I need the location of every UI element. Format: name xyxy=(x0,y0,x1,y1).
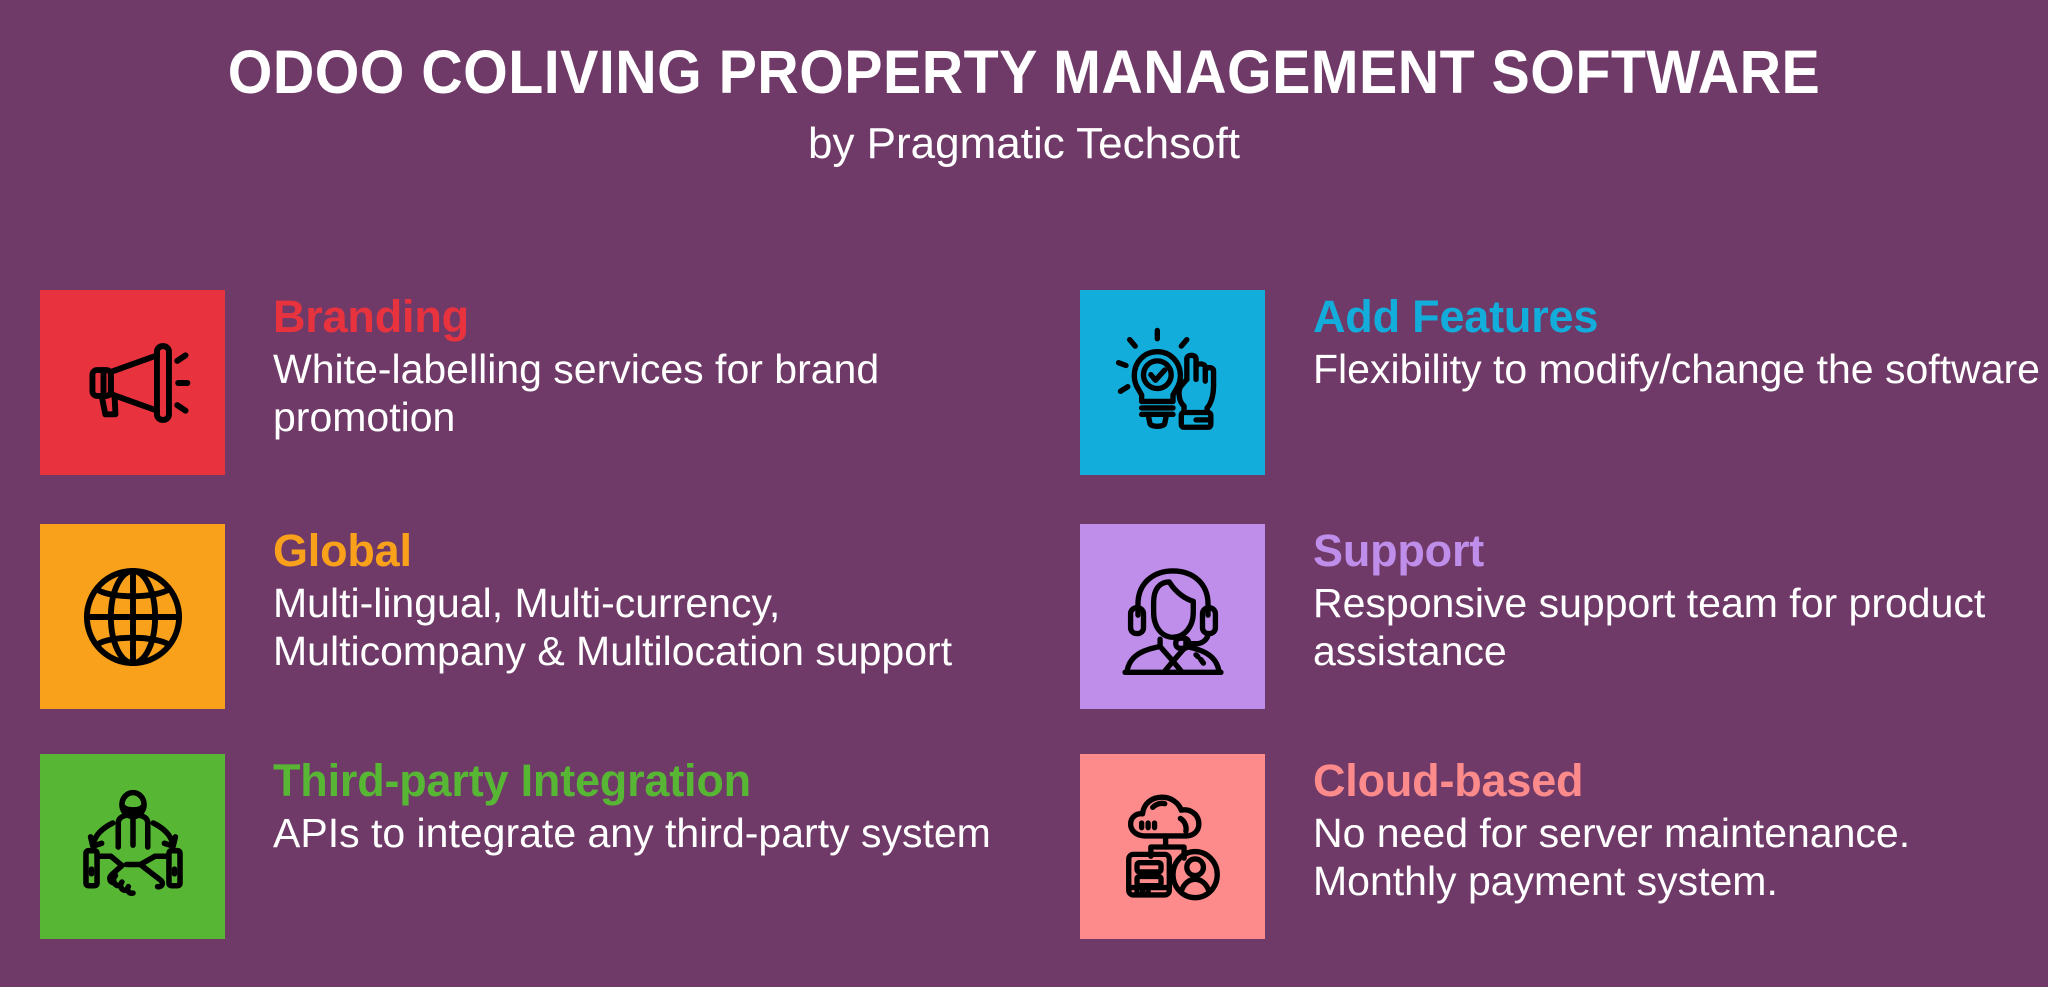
feature-text-add-features: Add Features Flexibility to modify/chang… xyxy=(1265,290,2048,393)
feature-text-branding: Branding White-labelling services for br… xyxy=(225,290,1024,442)
feature-text-third-party: Third-party Integration APIs to integrat… xyxy=(225,754,1024,857)
feature-icon-tile-third-party xyxy=(40,754,225,939)
cloud-server-user-icon xyxy=(1114,788,1232,906)
feature-text-global: Global Multi-lingual, Multi-currency, Mu… xyxy=(225,524,1024,676)
feature-body: No need for server maintenance. Monthly … xyxy=(1313,809,2048,906)
feature-support[interactable]: Support Responsive support team for prod… xyxy=(1024,524,2048,709)
feature-heading: Global xyxy=(273,528,1024,573)
feature-body: Responsive support team for product assi… xyxy=(1313,579,2048,676)
feature-icon-tile-global xyxy=(40,524,225,709)
feature-heading: Cloud-based xyxy=(1313,758,2048,803)
feature-third-party-integration[interactable]: Third-party Integration APIs to integrat… xyxy=(0,754,1024,939)
feature-heading: Branding xyxy=(273,294,1024,339)
page-subtitle: by Pragmatic Techsoft xyxy=(0,120,2048,168)
feature-heading: Support xyxy=(1313,528,2048,573)
feature-body: Multi-lingual, Multi-currency, Multicomp… xyxy=(273,579,1024,676)
lightbulb-hand-icon xyxy=(1114,324,1232,442)
feature-icon-tile-branding xyxy=(40,290,225,475)
features-column-left: Branding White-labelling services for br… xyxy=(0,265,1024,939)
feature-text-support: Support Responsive support team for prod… xyxy=(1265,524,2048,676)
feature-cloud-based[interactable]: Cloud-based No need for server maintenan… xyxy=(1024,754,2048,939)
feature-icon-tile-cloud-based xyxy=(1080,754,1265,939)
feature-body: White-labelling services for brand promo… xyxy=(273,345,1024,442)
page-header: ODOO COLIVING PROPERTY MANAGEMENT SOFTWA… xyxy=(0,0,2048,168)
handshake-icon xyxy=(74,788,192,906)
features-column-right: Add Features Flexibility to modify/chang… xyxy=(1024,265,2048,939)
feature-branding[interactable]: Branding White-labelling services for br… xyxy=(0,290,1024,475)
feature-global[interactable]: Global Multi-lingual, Multi-currency, Mu… xyxy=(0,524,1024,709)
headset-agent-icon xyxy=(1114,558,1232,676)
features-grid: Branding White-labelling services for br… xyxy=(0,265,2048,939)
feature-icon-tile-support xyxy=(1080,524,1265,709)
feature-icon-tile-add-features xyxy=(1080,290,1265,475)
feature-heading: Third-party Integration xyxy=(273,758,1024,803)
feature-add-features[interactable]: Add Features Flexibility to modify/chang… xyxy=(1024,290,2048,475)
feature-body: APIs to integrate any third-party system xyxy=(273,809,1024,857)
feature-text-cloud-based: Cloud-based No need for server maintenan… xyxy=(1265,754,2048,906)
globe-icon xyxy=(74,558,192,676)
feature-body: Flexibility to modify/change the softwar… xyxy=(1313,345,2048,393)
page-title: ODOO COLIVING PROPERTY MANAGEMENT SOFTWA… xyxy=(61,40,1986,104)
feature-heading: Add Features xyxy=(1313,294,2048,339)
megaphone-icon xyxy=(74,324,192,442)
